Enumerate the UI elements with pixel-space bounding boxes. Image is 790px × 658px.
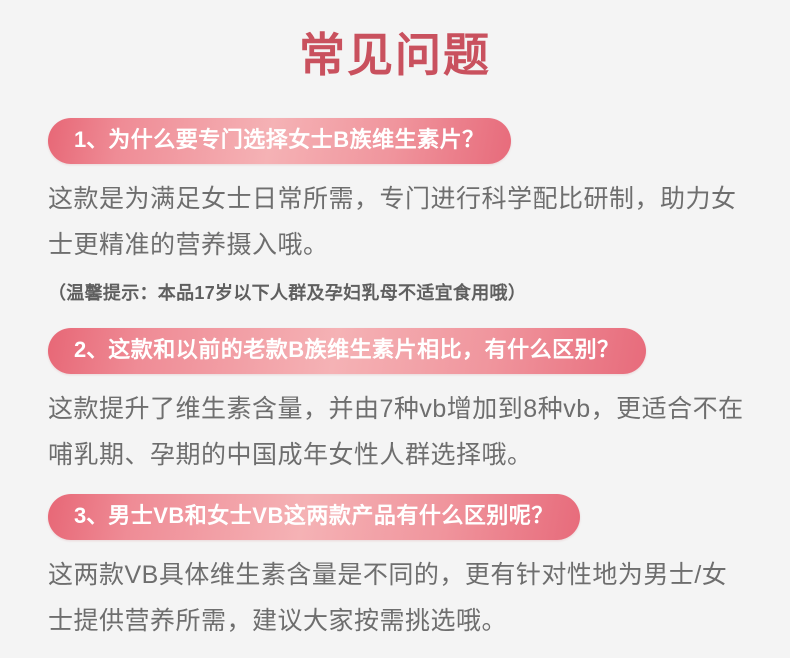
faq-answer-note-1: （温馨提示：本品17岁以下人群及孕妇乳母不适宜食用哦）: [0, 268, 790, 306]
faq-answer-3: 这两款VB具体维生素含量是不同的，更有针对性地为男士/女士提供营养所需，建议大家…: [0, 540, 790, 644]
faq-question-banner-2[interactable]: 2、这款和以前的老款B族维生素片相比，有什么区别？: [48, 328, 646, 374]
faq-question-number: 3、: [74, 503, 108, 528]
faq-question-text: 为什么要专门选择女士B族维生素片？: [108, 127, 484, 152]
faq-question-text: 男士VB和女士VB这两款产品有什么区别呢？: [108, 503, 554, 528]
faq-item: 1、为什么要专门选择女士B族维生素片？ 这款是为满足女士日常所需，专门进行科学配…: [0, 118, 790, 306]
faq-question-number: 2、: [74, 337, 108, 362]
faq-question-banner-3[interactable]: 3、男士VB和女士VB这两款产品有什么区别呢？: [48, 494, 580, 540]
faq-question-text: 这款和以前的老款B族维生素片相比，有什么区别？: [108, 337, 619, 362]
faq-page: 常见问题 1、为什么要专门选择女士B族维生素片？ 这款是为满足女士日常所需，专门…: [0, 0, 790, 658]
faq-item: 2、这款和以前的老款B族维生素片相比，有什么区别？ 这款提升了维生素含量，并由7…: [0, 328, 790, 478]
faq-answer-2: 这款提升了维生素含量，并由7种vb增加到8种vb，更适合不在哺乳期、孕期的中国成…: [0, 374, 790, 478]
faq-item: 3、男士VB和女士VB这两款产品有什么区别呢？ 这两款VB具体维生素含量是不同的…: [0, 494, 790, 644]
page-title: 常见问题: [0, 0, 790, 84]
faq-answer-1: 这款是为满足女士日常所需，专门进行科学配比研制，助力女士更精准的营养摄入哦。: [0, 164, 790, 268]
faq-list: 1、为什么要专门选择女士B族维生素片？ 这款是为满足女士日常所需，专门进行科学配…: [0, 118, 790, 644]
faq-question-banner-1[interactable]: 1、为什么要专门选择女士B族维生素片？: [48, 118, 511, 164]
faq-question-number: 1、: [74, 127, 108, 152]
